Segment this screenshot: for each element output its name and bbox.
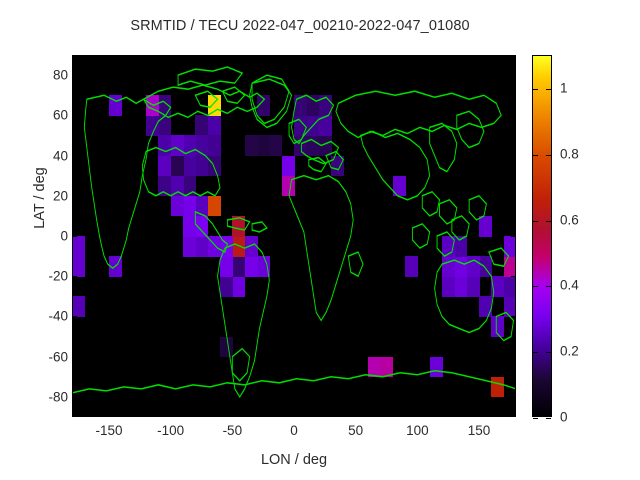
y-tick-mark [72,357,77,358]
x-tick-mark [232,55,233,60]
colorbar-tick-mark [533,418,538,419]
colorbar-tick-mark [546,418,551,419]
x-axis-tick-labels: -150-100-50050100150 [72,423,516,443]
colorbar-tick-label: 1 [560,80,568,95]
x-tick-mark [417,55,418,60]
x-tick-mark [479,412,480,417]
y-tick-mark [511,156,516,157]
y-tick-label: -20 [22,269,68,284]
x-tick-mark [232,412,233,417]
colorbar-tick-label: 0 [560,410,568,425]
y-tick-mark [72,156,77,157]
x-tick-mark [109,412,110,417]
y-axis-label: LAT / deg [32,138,48,258]
colorbar [532,55,552,417]
colorbar-tick-mark [546,155,551,156]
x-tick-label: 100 [382,423,452,438]
y-tick-label: -60 [22,349,68,364]
y-tick-mark [511,196,516,197]
x-tick-label: -100 [136,423,206,438]
y-tick-mark [511,316,516,317]
colorbar-tick-mark [533,286,538,287]
x-tick-label: -150 [74,423,144,438]
colorbar-tick-mark [533,352,538,353]
y-tick-mark [72,75,77,76]
x-tick-mark [171,55,172,60]
x-tick-label: 150 [444,423,514,438]
x-tick-label: 0 [259,423,329,438]
y-tick-mark [72,115,77,116]
y-tick-label: 60 [22,108,68,123]
colorbar-tick-mark [546,286,551,287]
colorbar-tick-mark [533,155,538,156]
x-tick-mark [294,412,295,417]
y-tick-label: -80 [22,389,68,404]
y-tick-mark [511,236,516,237]
x-tick-mark [356,55,357,60]
colorbar-tick-mark [533,221,538,222]
y-tick-mark [511,357,516,358]
figure: SRMTID / TECU 2022-047_00210-2022-047_01… [0,0,640,480]
x-tick-mark [109,55,110,60]
x-tick-label: -50 [197,423,267,438]
y-tick-mark [72,236,77,237]
x-tick-mark [479,55,480,60]
colorbar-tick-mark [546,89,551,90]
y-tick-label: -40 [22,309,68,324]
chart-title: SRMTID / TECU 2022-047_00210-2022-047_01… [0,18,600,34]
y-tick-mark [72,397,77,398]
x-axis-label: LON / deg [72,452,516,468]
y-tick-label: 80 [22,68,68,83]
coastline-overlay [72,55,516,417]
y-tick-mark [511,75,516,76]
y-tick-mark [511,276,516,277]
x-tick-mark [171,412,172,417]
colorbar-tick-label: 0.4 [560,278,579,293]
colorbar-tick-label: 0.2 [560,344,579,359]
x-tick-mark [417,412,418,417]
y-tick-mark [72,196,77,197]
y-tick-mark [72,316,77,317]
y-tick-mark [511,115,516,116]
map-plot-area[interactable] [72,55,516,417]
colorbar-gradient [533,56,551,416]
y-tick-mark [511,397,516,398]
x-tick-mark [294,55,295,60]
colorbar-tick-mark [533,89,538,90]
colorbar-tick-label: 0.8 [560,146,579,161]
y-tick-mark [72,276,77,277]
colorbar-tick-label: 0.6 [560,212,579,227]
colorbar-tick-mark [546,352,551,353]
x-tick-label: 50 [321,423,391,438]
x-tick-mark [356,412,357,417]
colorbar-tick-mark [546,221,551,222]
